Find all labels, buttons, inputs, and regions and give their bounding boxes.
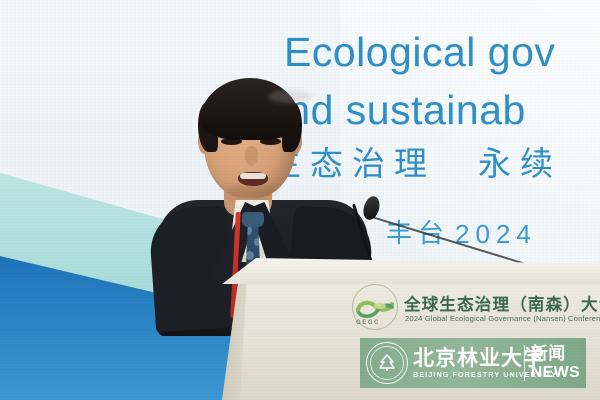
- speaker-nose: [245, 146, 258, 166]
- backdrop-title-english-line1: Ecological gov: [284, 30, 555, 74]
- speaker-hair: [200, 78, 300, 140]
- bfu-tree-emblem-icon: [377, 353, 397, 373]
- watermark-divider: [524, 345, 525, 381]
- speaker-chin-shadow: [228, 184, 276, 198]
- speaker-tie-knot: [242, 212, 264, 227]
- bfu-seal-logo: [366, 342, 408, 384]
- news-label-chinese: 新闻: [531, 345, 580, 364]
- bfu-name-english: BEIJING FORESTRY UNIVERSITY: [413, 369, 518, 380]
- speaker-mouth: [238, 172, 268, 186]
- screenshot-root: Ecological gov and sustainab 生态治理 永续 丰台 …: [0, 0, 600, 400]
- bfu-name-block: 北京林业大学 BEIJING FORESTRY UNIVERSITY: [408, 347, 518, 380]
- gegc-leaf-swoosh-icon: [355, 297, 395, 319]
- news-channel-block: 新闻 NEWS: [531, 345, 586, 382]
- gegc-logo-text: GEGC: [356, 320, 380, 326]
- news-label-english: NEWS: [531, 364, 580, 382]
- bfu-name-chinese: 北京林业大学: [413, 347, 518, 369]
- podium-sign-title-english: 2024 Global Ecological Governance (Nanse…: [405, 314, 600, 323]
- bfu-news-watermark: 北京林业大学 BEIJING FORESTRY UNIVERSITY 新闻 NE…: [360, 338, 586, 388]
- podium-sign-title-chinese: 全球生态治理（南森）大会: [404, 291, 600, 315]
